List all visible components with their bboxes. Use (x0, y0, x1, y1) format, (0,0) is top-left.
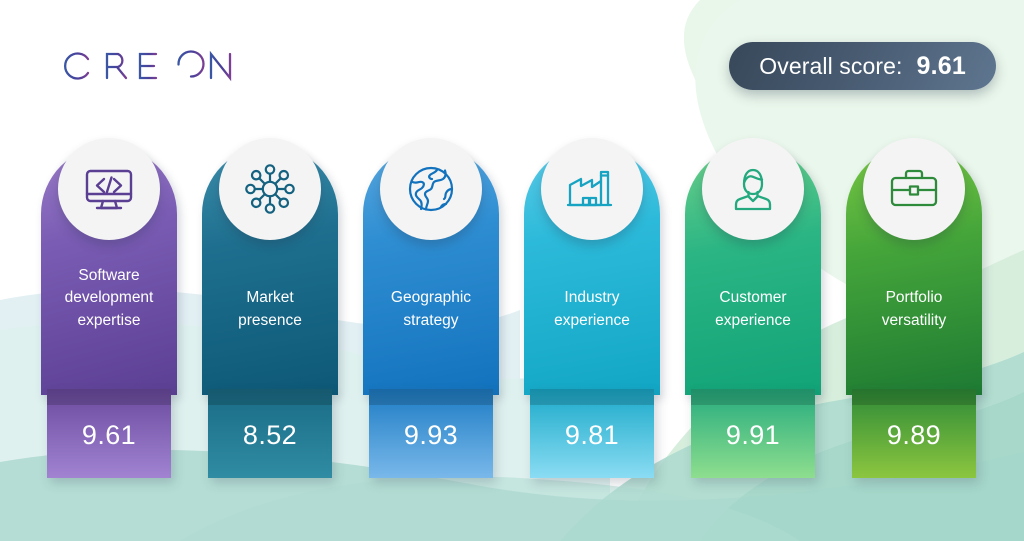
icreon-logo (44, 42, 249, 90)
score-value: 8.52 (243, 420, 297, 451)
pillar-body: Geographic strategy (363, 146, 499, 395)
network-hub-icon (241, 160, 299, 218)
pillar-body: Portfolio versatility (846, 146, 982, 395)
icon-disc (380, 138, 482, 240)
score-value: 9.81 (565, 420, 619, 451)
score-tab-shadow (691, 389, 815, 405)
pillar-label: Customer experience (685, 287, 821, 333)
score-value: 9.61 (82, 420, 136, 451)
score-tab-shadow (208, 389, 332, 405)
briefcase-icon (885, 160, 943, 218)
infographic-canvas: Overall score: 9.61 9.61 (0, 0, 1024, 541)
score-tab: 9.93 (369, 389, 493, 478)
pillar-customer-experience[interactable]: 9.91 Customer experience (685, 146, 821, 395)
pillar-label: Software development expertise (41, 265, 177, 333)
pillar-label: Market presence (202, 287, 338, 333)
pillar-body: Customer experience (685, 146, 821, 395)
overall-score-value: 9.61 (917, 52, 966, 81)
pillar-geographic-strategy[interactable]: 9.93 Geographic strate (363, 146, 499, 395)
score-value: 9.91 (726, 420, 780, 451)
pillar-industry-experience[interactable]: 9.81 Industry experien (524, 146, 660, 395)
pillar-label: Geographic strategy (363, 287, 499, 333)
overall-score-label: Overall score: (759, 53, 902, 80)
pillar-label: Industry experience (524, 287, 660, 333)
globe-icon (402, 160, 460, 218)
pillar-portfolio-versatility[interactable]: 9.89 Portfolio versatility (846, 146, 982, 395)
score-value: 9.93 (404, 420, 458, 451)
score-tab: 9.89 (852, 389, 976, 478)
score-tab: 8.52 (208, 389, 332, 478)
factory-icon (563, 160, 621, 218)
score-tab-shadow (369, 389, 493, 405)
icon-disc (702, 138, 804, 240)
score-tab: 9.81 (530, 389, 654, 478)
overall-score-badge: Overall score: 9.61 (729, 42, 996, 90)
score-tab-shadow (530, 389, 654, 405)
pillar-software-development-expertise[interactable]: 9.61 So (41, 146, 177, 395)
icon-disc (219, 138, 321, 240)
pillar-body: Industry experience (524, 146, 660, 395)
icon-disc (863, 138, 965, 240)
icon-disc (58, 138, 160, 240)
pillar-label: Portfolio versatility (846, 287, 982, 333)
person-icon (724, 160, 782, 218)
score-value: 9.89 (887, 420, 941, 451)
score-tab-shadow (47, 389, 171, 405)
score-tab: 9.91 (691, 389, 815, 478)
code-monitor-icon (80, 160, 138, 218)
pillar-market-presence[interactable]: 8.52 (202, 146, 338, 395)
pillar-body: Market presence (202, 146, 338, 395)
pillar-body: Software development expertise (41, 146, 177, 395)
score-tab: 9.61 (47, 389, 171, 478)
score-tab-shadow (852, 389, 976, 405)
icon-disc (541, 138, 643, 240)
